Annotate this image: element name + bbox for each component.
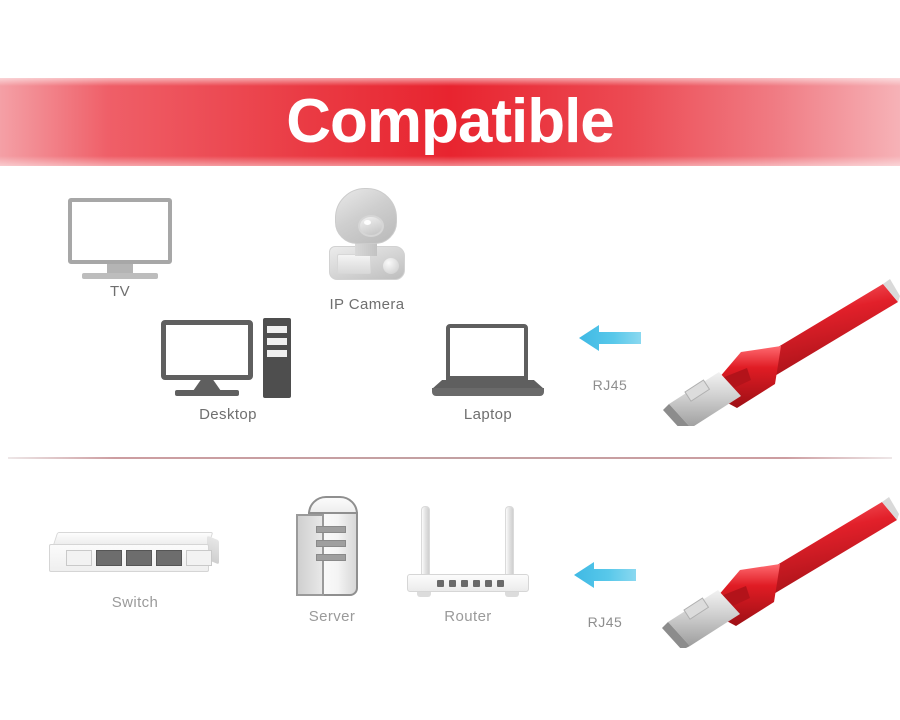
- tower-slot: [267, 350, 287, 357]
- switch-port-group: [66, 550, 212, 566]
- router-led: [449, 580, 456, 587]
- switch-port: [126, 550, 152, 566]
- switch-port: [186, 550, 212, 566]
- server-bay: [316, 526, 346, 533]
- page-title: Compatible: [286, 91, 614, 153]
- camera-bracket-shape: [337, 254, 371, 274]
- switch-port: [66, 550, 92, 566]
- ethernet-cable-graphic: [650, 488, 900, 648]
- device-label-router: Router: [398, 608, 538, 625]
- camera-dome-shape: [335, 188, 397, 244]
- server-bay: [316, 554, 346, 561]
- switch-port: [96, 550, 122, 566]
- router-led-group: [437, 580, 504, 587]
- device-server: Server: [272, 496, 392, 625]
- red-ethernet-cable-top: [655, 276, 900, 431]
- tv-neck-shape: [107, 264, 133, 273]
- router-led: [485, 580, 492, 587]
- laptop-screen-shape: [446, 324, 528, 380]
- desktop-monitor-shape: [161, 320, 253, 380]
- tv-icon: [50, 198, 190, 279]
- tv-base-shape: [82, 273, 158, 279]
- server-rack-icon: [292, 496, 372, 604]
- switch-port: [156, 550, 182, 566]
- router-antenna-right: [505, 506, 514, 578]
- camera-knob-shape: [383, 258, 399, 274]
- desktop-computer-icon: [161, 316, 295, 402]
- ip-camera-icon: [319, 184, 415, 292]
- device-label-laptop: Laptop: [418, 406, 558, 423]
- desktop-stand-base-shape: [175, 390, 239, 396]
- device-label-ip-camera: IP Camera: [292, 296, 442, 313]
- tower-slot: [267, 326, 287, 333]
- router-led: [473, 580, 480, 587]
- compatible-banner: Compatible: [0, 78, 900, 166]
- tower-slot: [267, 338, 287, 345]
- device-tv: TV: [50, 198, 190, 300]
- router-led: [437, 580, 444, 587]
- device-label-switch: Switch: [40, 594, 230, 611]
- tv-screen-shape: [68, 198, 172, 264]
- laptop-front-edge-shape: [432, 388, 544, 396]
- camera-lens-shape: [358, 215, 384, 237]
- network-devices-row: Switch Server: [0, 458, 900, 720]
- arrow-left-icon: [577, 321, 643, 355]
- rj45-label-bottom: RJ45: [550, 614, 660, 630]
- end-devices-row: TV IP Camera Desktop: [0, 166, 900, 457]
- device-ip-camera: IP Camera: [292, 184, 442, 313]
- router-foot-right: [505, 592, 519, 597]
- network-switch-icon: [49, 526, 221, 590]
- red-ethernet-cable-bottom: [650, 488, 900, 653]
- connector-group-bottom: RJ45: [550, 558, 660, 630]
- connector-group-top: RJ45: [555, 321, 665, 393]
- device-switch: Switch: [40, 526, 230, 611]
- device-label-desktop: Desktop: [148, 406, 308, 423]
- desktop-tower-shape: [263, 318, 291, 398]
- device-desktop: Desktop: [148, 316, 308, 423]
- switch-front-panel-shape: [49, 544, 209, 572]
- server-bay: [316, 540, 346, 547]
- ethernet-cable-graphic: [655, 276, 900, 426]
- device-label-tv: TV: [50, 283, 190, 300]
- router-antenna-left: [421, 506, 430, 578]
- router-led: [461, 580, 468, 587]
- wifi-router-icon: [407, 500, 529, 604]
- router-foot-left: [417, 592, 431, 597]
- device-label-server: Server: [272, 608, 392, 625]
- device-router: Router: [398, 500, 538, 625]
- laptop-icon: [432, 324, 544, 402]
- router-led: [497, 580, 504, 587]
- arrow-left-icon: [572, 558, 638, 592]
- rj45-label-top: RJ45: [555, 377, 665, 393]
- device-laptop: Laptop: [418, 324, 558, 423]
